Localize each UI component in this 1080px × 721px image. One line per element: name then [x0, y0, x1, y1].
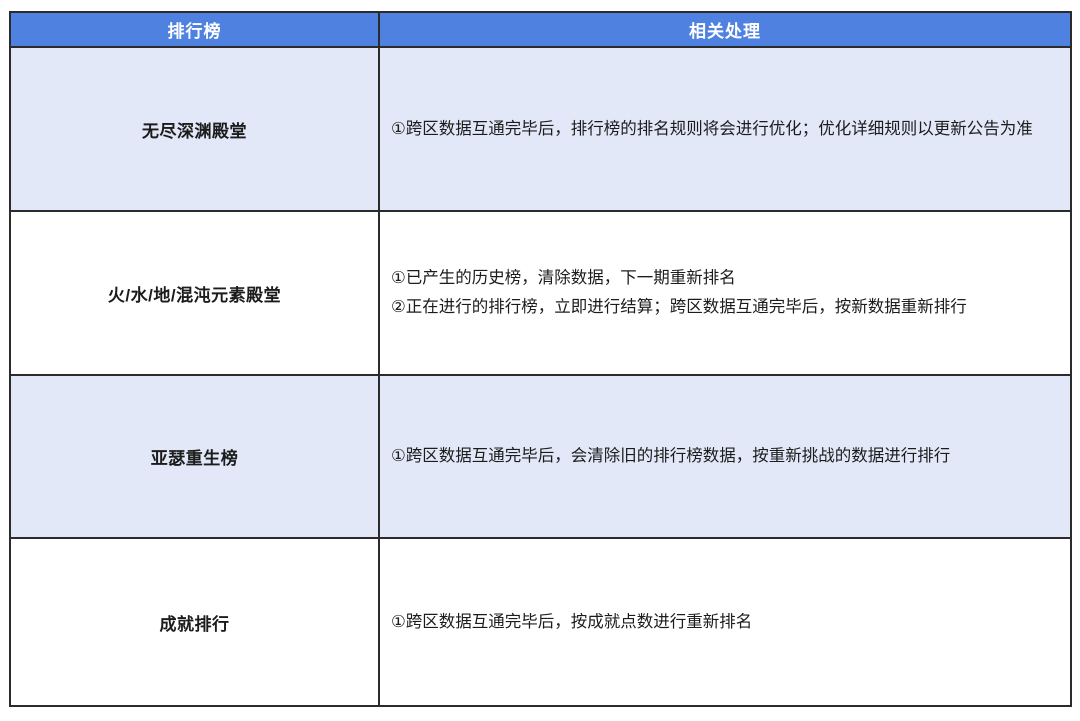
page-root: 排行榜 相关处理 无尽深渊殿堂 ①跨区数据互通完毕后，排行榜的排名规则将会进行优… — [0, 0, 1080, 721]
ranking-name-cell: 火/水/地/混沌元素殿堂 — [10, 211, 379, 375]
table-row: 亚瑟重生榜 ①跨区数据互通完毕后，会清除旧的排行榜数据，按重新挑战的数据进行排行 — [10, 375, 1071, 538]
processing-desc-cell: ①已产生的历史榜，清除数据，下一期重新排名 ②正在进行的排行榜，立即进行结算；跨… — [379, 211, 1071, 375]
processing-desc-cell: ①跨区数据互通完毕后，排行榜的排名规则将会进行优化；优化详细规则以更新公告为准 — [379, 47, 1071, 211]
column-header-processing: 相关处理 — [379, 12, 1071, 47]
processing-desc-cell: ①跨区数据互通完毕后，按成就点数进行重新排名 — [379, 538, 1071, 706]
processing-desc-cell: ①跨区数据互通完毕后，会清除旧的排行榜数据，按重新挑战的数据进行排行 — [379, 375, 1071, 538]
table-body: 无尽深渊殿堂 ①跨区数据互通完毕后，排行榜的排名规则将会进行优化；优化详细规则以… — [10, 47, 1071, 706]
processing-desc-line: ①跨区数据互通完毕后，排行榜的排名规则将会进行优化；优化详细规则以更新公告为准 — [391, 115, 1056, 144]
column-header-ranking: 排行榜 — [10, 12, 379, 47]
table-header: 排行榜 相关处理 — [10, 12, 1071, 47]
ranking-name-cell: 亚瑟重生榜 — [10, 375, 379, 538]
ranking-name-cell: 成就排行 — [10, 538, 379, 706]
table-header-row: 排行榜 相关处理 — [10, 12, 1071, 47]
processing-desc-line: ①跨区数据互通完毕后，会清除旧的排行榜数据，按重新挑战的数据进行排行 — [391, 442, 1056, 471]
ranking-name-cell: 无尽深渊殿堂 — [10, 47, 379, 211]
table-row: 无尽深渊殿堂 ①跨区数据互通完毕后，排行榜的排名规则将会进行优化；优化详细规则以… — [10, 47, 1071, 211]
table-row: 火/水/地/混沌元素殿堂 ①已产生的历史榜，清除数据，下一期重新排名 ②正在进行… — [10, 211, 1071, 375]
processing-desc-line: ①跨区数据互通完毕后，按成就点数进行重新排名 — [391, 608, 1056, 637]
processing-desc-line: ②正在进行的排行榜，立即进行结算；跨区数据互通完毕后，按新数据重新排行 — [391, 293, 1056, 322]
processing-desc-line: ①已产生的历史榜，清除数据，下一期重新排名 — [391, 264, 1056, 293]
table-row: 成就排行 ①跨区数据互通完毕后，按成就点数进行重新排名 — [10, 538, 1071, 706]
ranking-processing-table: 排行榜 相关处理 无尽深渊殿堂 ①跨区数据互通完毕后，排行榜的排名规则将会进行优… — [9, 11, 1072, 707]
